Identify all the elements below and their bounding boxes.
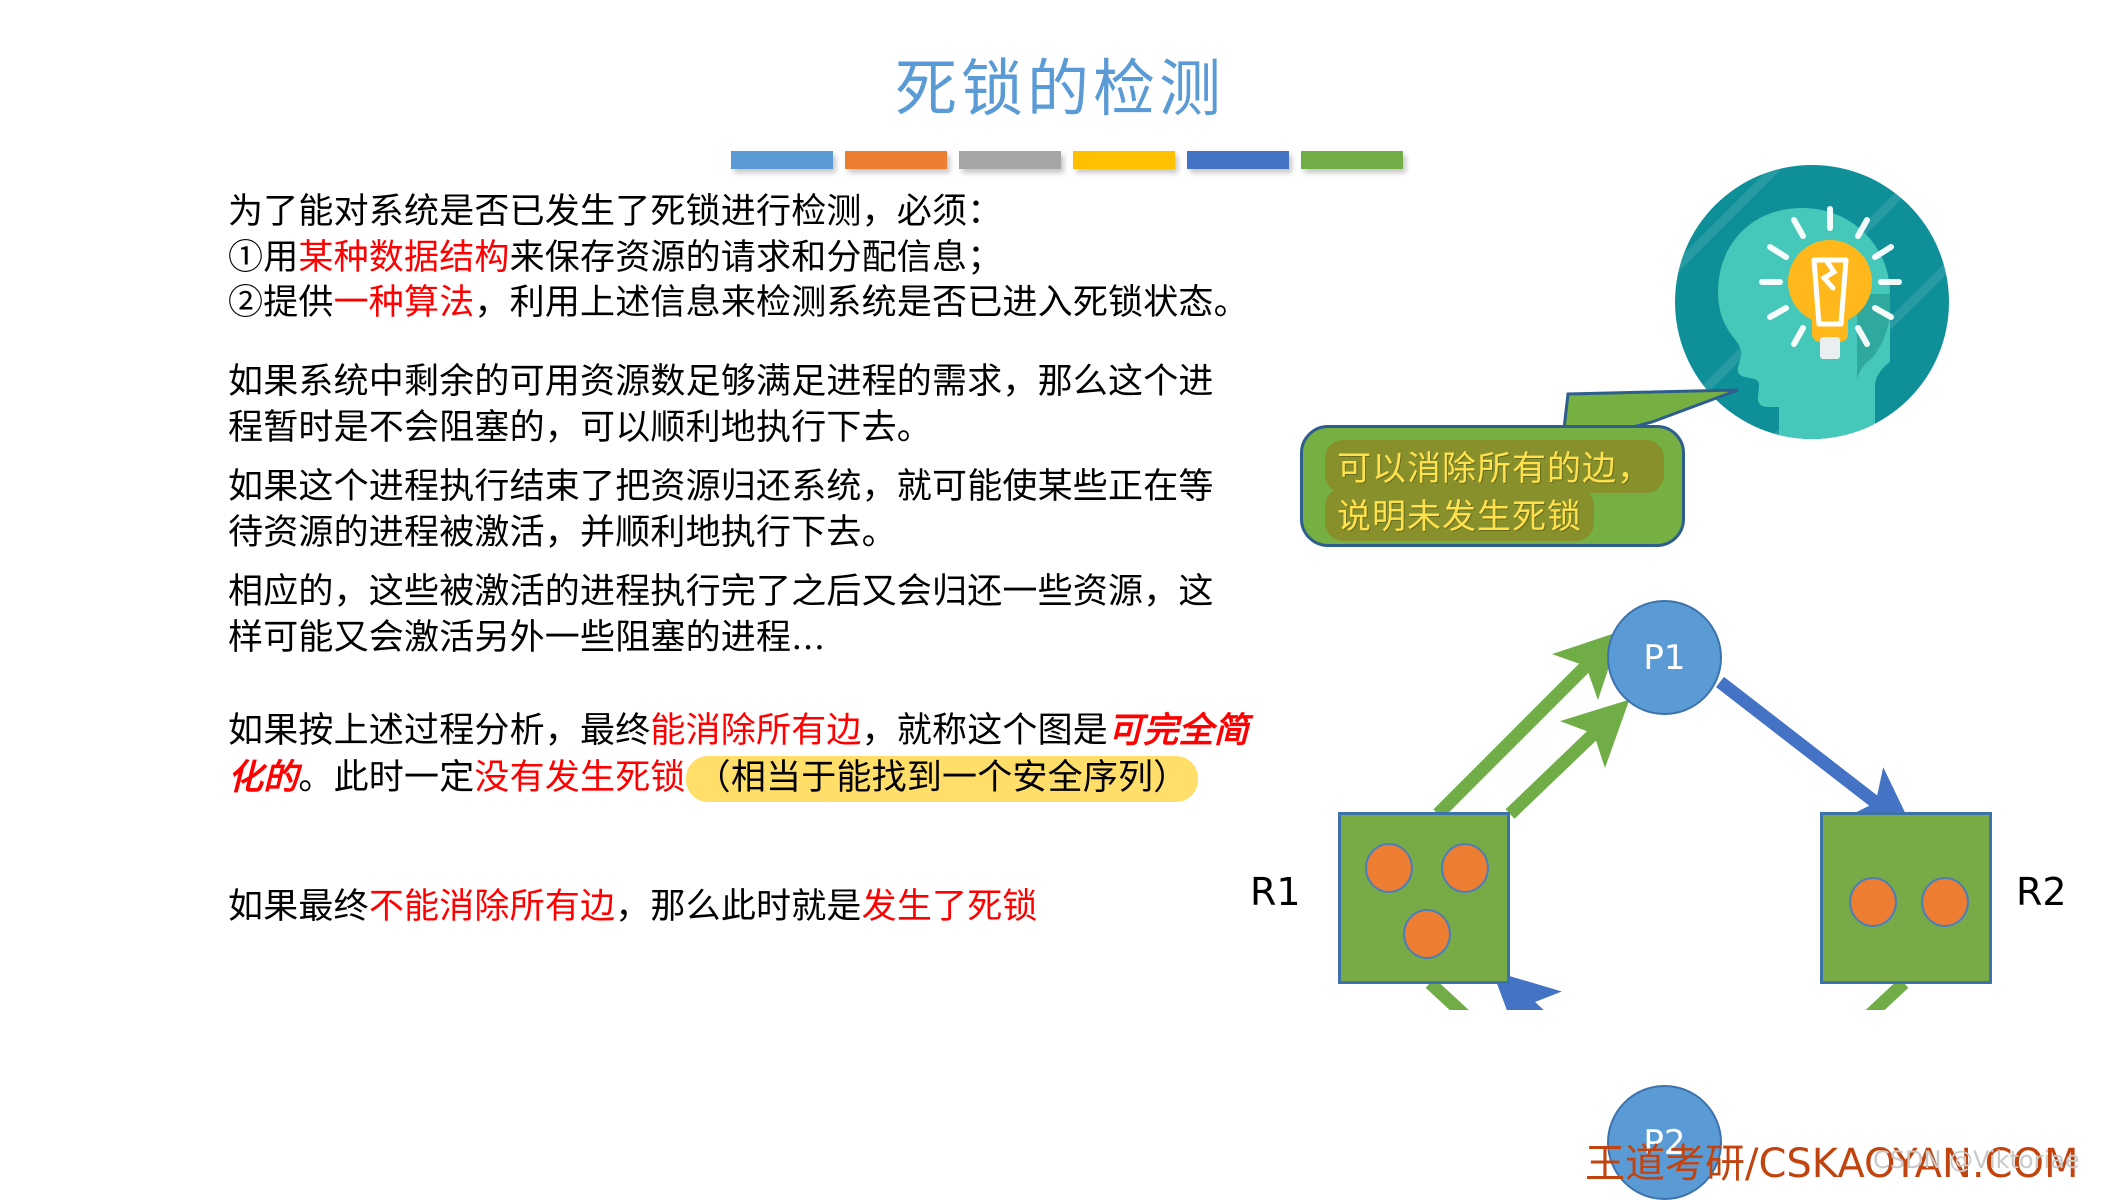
callout-line-1: 可以消除所有的边，: [1325, 440, 1664, 493]
resource-instance-dot: [1403, 909, 1451, 959]
p6-seg2-emphasis: 不能消除所有边: [369, 887, 615, 927]
accent-bar-gray: [959, 151, 1061, 169]
paragraph-available-resources: 如果系统中剩余的可用资源数足够满足进程的需求，那么这个进程暂时是不会阻塞的，可以…: [228, 360, 1228, 451]
accent-bar-darkblue: [1187, 151, 1289, 169]
edge-r1-p1-a: [1438, 655, 1597, 814]
intro-line-3-emphasis: 一种算法: [334, 283, 475, 323]
slide-root: 死锁的检测 为了能对系统是否已发生了死锁进行检测，必须：①用某种数据结构来保存资…: [0, 0, 2120, 1184]
p5-seg6-emphasis: 没有发生死锁: [474, 758, 685, 798]
intro-line-2-prefix: ①用: [228, 238, 298, 278]
resource-instance-dot: [1365, 843, 1413, 893]
callout-line-2: 说明未发生死锁: [1325, 488, 1594, 541]
resource-instance-dot: [1849, 877, 1897, 927]
edge-r1-p2: [1430, 983, 1598, 1010]
accent-bar-strip: [731, 151, 1421, 169]
intro-line-3-prefix: ②提供: [228, 283, 334, 323]
accent-bar-green: [1301, 151, 1403, 169]
intro-line-2-suffix: 来保存资源的请求和分配信息；: [510, 238, 1003, 278]
page-title: 死锁的检测: [0, 38, 2120, 128]
accent-bar-orange: [845, 151, 947, 169]
resource-node-r2[interactable]: [1820, 812, 1992, 984]
edge-r2-p2: [1738, 983, 1904, 1010]
resource-allocation-graph: R1 R2 P1 P2: [1320, 590, 2120, 1010]
intro-line-2-emphasis: 某种数据结构: [298, 238, 509, 278]
accent-bar-blue: [731, 151, 833, 169]
intro-line-3-suffix: ，利用上述信息来检测系统是否已进入死锁状态。: [474, 283, 1248, 323]
paragraph-deadlock-conclusion: 如果最终不能消除所有边，那么此时就是发生了死锁: [228, 885, 1228, 931]
resource-label-r1: R1: [1250, 870, 1301, 914]
paragraph-fully-reducible: 如果按上述过程分析，最终能消除所有边，就称这个图是可完全简化的。此时一定没有发生…: [228, 708, 1268, 801]
edge-p1-r2: [1720, 682, 1888, 812]
resource-label-r2: R2: [2016, 870, 2067, 914]
p5-seg1: 如果按上述过程分析，最终: [228, 711, 650, 751]
edge-p2-r1: [1517, 994, 1620, 1010]
process-label-p1: P1: [1643, 638, 1685, 678]
accent-bar-yellow: [1073, 151, 1175, 169]
intro-line-1: 为了能对系统是否已发生了死锁进行检测，必须：: [228, 192, 1002, 232]
paragraph-release-resources: 如果这个进程执行结束了把资源归还系统，就可能使某些正在等待资源的进程被激活，并顺…: [228, 465, 1228, 556]
paragraph-cascade-activation: 相应的，这些被激活的进程执行完了之后又会归还一些资源，这样可能又会激活另外一些阻…: [228, 570, 1228, 661]
p6-seg3: ，那么此时就是: [615, 887, 861, 927]
p5-seg2-emphasis: 能消除所有边: [650, 711, 861, 751]
callout-bubble: 可以消除所有的边， 说明未发生死锁: [1300, 425, 1685, 547]
intro-paragraph: 为了能对系统是否已发生了死锁进行检测，必须：①用某种数据结构来保存资源的请求和分…: [228, 190, 1428, 327]
resource-instance-dot: [1441, 843, 1489, 893]
p5-seg3: ，就称这个图是: [862, 711, 1108, 751]
watermark: CSDN @Viktoriae: [1873, 1146, 2080, 1174]
process-node-p1[interactable]: P1: [1607, 600, 1722, 715]
p6-seg1: 如果最终: [228, 887, 369, 927]
p6-seg4-emphasis: 发生了死锁: [862, 887, 1038, 927]
p5-seg5: 。此时一定: [298, 758, 474, 798]
resource-node-r1[interactable]: [1338, 812, 1510, 984]
resource-instance-dot: [1921, 877, 1969, 927]
p5-seg7-highlighted: （相当于能找到一个安全序列）: [686, 756, 1199, 802]
